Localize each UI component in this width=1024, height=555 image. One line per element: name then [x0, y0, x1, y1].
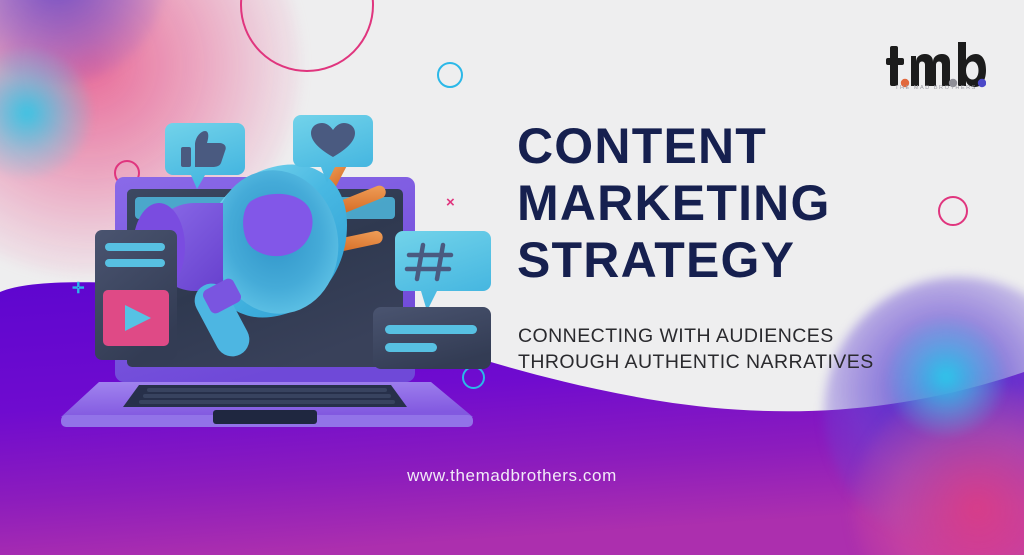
- pink-ring-right-icon: [938, 196, 968, 226]
- headline-line-3: STRATEGY: [517, 232, 917, 289]
- headline-line-1: CONTENT: [517, 118, 917, 175]
- marketing-banner: × ✛: [0, 0, 1024, 555]
- subtitle: CONNECTING WITH AUDIENCES THROUGH AUTHEN…: [518, 323, 938, 375]
- headline-line-2: MARKETING: [517, 175, 917, 232]
- content-marketing-illustration: [55, 105, 515, 445]
- subtitle-line-1: CONNECTING WITH AUDIENCES: [518, 323, 938, 349]
- play-card: [95, 230, 177, 360]
- message-card: [373, 307, 491, 369]
- cyan-ring-small-icon: [437, 62, 463, 88]
- page-title: CONTENT MARKETING STRATEGY: [517, 118, 917, 289]
- brand-tagline: THE MAD BROTHERS: [880, 85, 992, 91]
- website-url[interactable]: www.themadbrothers.com: [0, 466, 1024, 486]
- subtitle-line-2: THROUGH AUTHENTIC NARRATIVES: [518, 349, 938, 375]
